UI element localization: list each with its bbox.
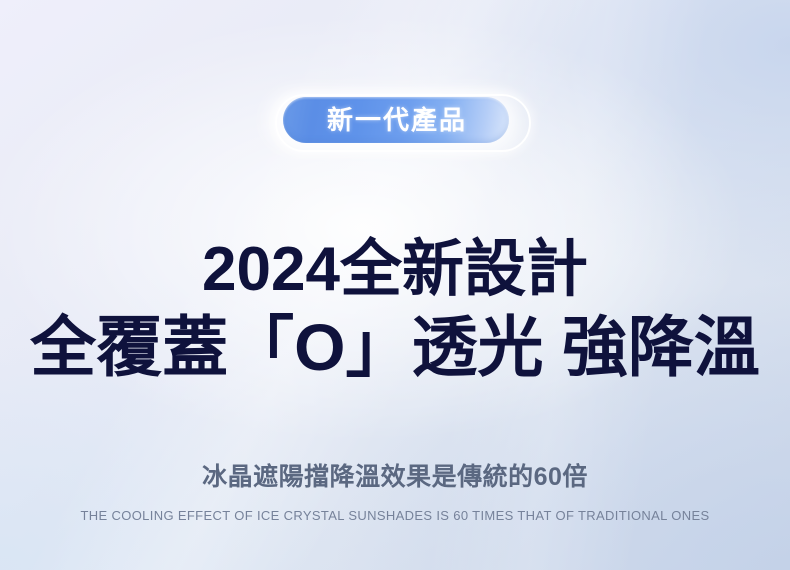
headline-block: 2024全新設計 全覆蓋「O」透光 強降溫 (0, 238, 790, 382)
headline-line-1: 2024全新設計 (0, 238, 790, 302)
poster-canvas: 新一代產品 2024全新設計 全覆蓋「O」透光 強降溫 冰晶遮陽擋降溫效果是傳統… (0, 0, 790, 570)
subtitle-chinese: 冰晶遮陽擋降溫效果是傳統的60倍 (0, 462, 790, 492)
headline-line-2: 全覆蓋「O」透光 強降溫 (0, 314, 790, 382)
badge-label: 新一代產品 (325, 107, 467, 133)
subtitle-english: THE COOLING EFFECT OF ICE CRYSTAL SUNSHA… (0, 508, 790, 524)
new-generation-badge[interactable]: 新一代產品 (261, 90, 529, 152)
subcopy-block: 冰晶遮陽擋降溫效果是傳統的60倍 THE COOLING EFFECT OF I… (0, 462, 790, 524)
badge-container: 新一代產品 (0, 90, 790, 152)
badge-pill: 新一代產品 (283, 97, 509, 143)
